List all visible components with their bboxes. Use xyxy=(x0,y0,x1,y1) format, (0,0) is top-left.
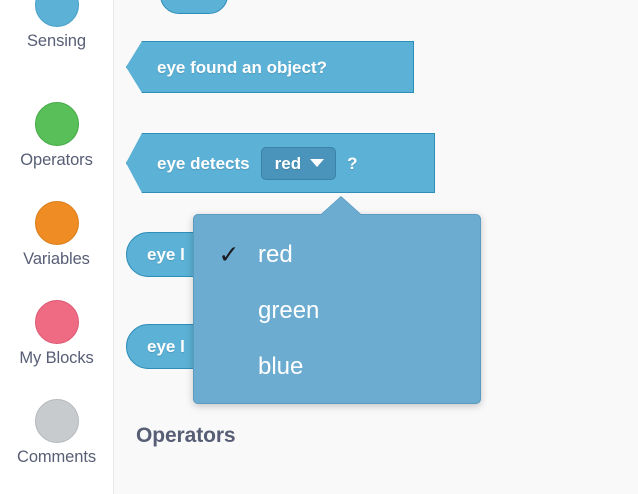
checkmark-icon: ✓ xyxy=(216,243,242,268)
dropdown-option-blue[interactable]: blue xyxy=(194,339,480,395)
sidebar-item-label: My Blocks xyxy=(0,348,113,368)
category-sidebar: Sensing Operators Variables My Blocks Co… xyxy=(0,0,114,494)
block-content: eye found an object? xyxy=(127,42,327,92)
block-label: eye found an object? xyxy=(157,59,327,76)
block-label-suffix: ? xyxy=(347,155,357,172)
category-dot-icon xyxy=(35,201,79,245)
category-dot-icon xyxy=(35,300,79,344)
dropdown-option-label: red xyxy=(258,243,293,267)
category-dot-icon xyxy=(35,399,79,443)
color-dropdown-value: red xyxy=(275,155,301,172)
sidebar-item-sensing[interactable]: Sensing xyxy=(0,0,113,51)
block-clipped-top[interactable] xyxy=(160,0,228,14)
color-dropdown-field[interactable]: red xyxy=(261,147,336,180)
dropdown-option-label: green xyxy=(258,299,319,323)
block-label: eye l xyxy=(147,338,185,355)
color-dropdown-menu[interactable]: ✓ red green blue xyxy=(193,214,481,404)
block-eye-found-an-object[interactable]: eye found an object? xyxy=(126,41,414,93)
sidebar-item-label: Comments xyxy=(0,447,113,467)
dropdown-option-green[interactable]: green xyxy=(194,283,480,339)
sidebar-item-operators[interactable]: Operators xyxy=(0,102,113,170)
category-dot-icon xyxy=(35,0,79,27)
chevron-down-icon xyxy=(310,159,324,167)
sidebar-item-my-blocks[interactable]: My Blocks xyxy=(0,300,113,368)
block-content: eye detects red ? xyxy=(127,134,357,192)
sidebar-item-label: Variables xyxy=(0,249,113,269)
sidebar-item-label: Operators xyxy=(0,150,113,170)
sidebar-item-label: Sensing xyxy=(0,31,113,51)
palette-section-heading: Operators xyxy=(136,424,235,448)
dropdown-pointer-arrow xyxy=(321,197,361,215)
dropdown-option-red[interactable]: ✓ red xyxy=(194,227,480,283)
sidebar-item-comments[interactable]: Comments xyxy=(0,399,113,467)
dropdown-option-label: blue xyxy=(258,355,303,379)
scratch-editor-screen: Sensing Operators Variables My Blocks Co… xyxy=(0,0,638,494)
sidebar-item-variables[interactable]: Variables xyxy=(0,201,113,269)
block-label: eye l xyxy=(147,246,185,263)
block-eye-detects-color[interactable]: eye detects red ? xyxy=(126,133,435,193)
block-palette[interactable]: eye found an object? eye detects red ? e… xyxy=(114,0,638,494)
block-label-prefix: eye detects xyxy=(157,155,250,172)
category-dot-icon xyxy=(35,102,79,146)
